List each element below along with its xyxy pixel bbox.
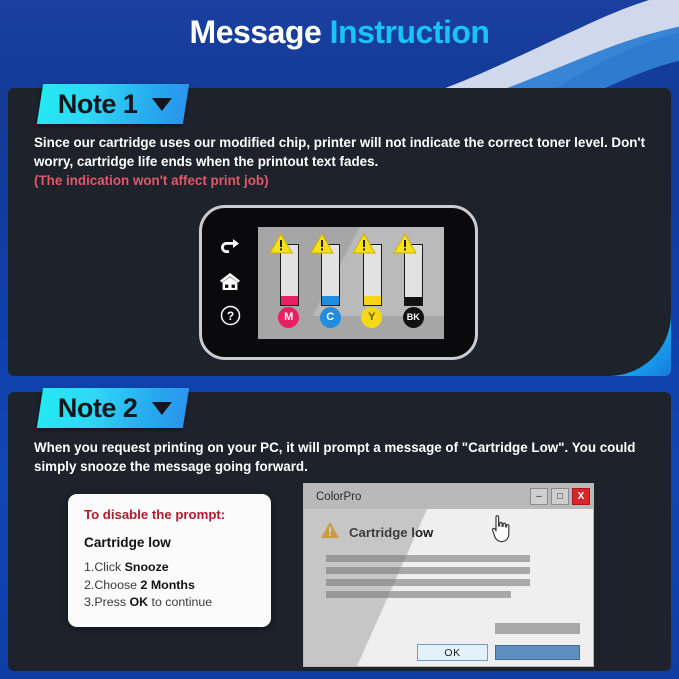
step-keyword: Snooze [125, 560, 169, 574]
toner-fill [364, 296, 381, 305]
step-keyword: OK [129, 595, 148, 609]
list-item: 2.Choose 2 Months [84, 577, 255, 595]
card-title: To disable the prompt: [84, 507, 255, 522]
dialog-message-row: Cartridge low [304, 509, 593, 544]
step-number: 2. [84, 578, 94, 592]
dialog-footer: OK [304, 644, 593, 661]
note1-warning-text: (The indication won't affect print job) [34, 171, 664, 190]
note2-paragraph: When you request printing on your PC, it… [34, 438, 664, 476]
placeholder-bar [326, 591, 511, 598]
step-text: Choose [94, 578, 140, 592]
step-tail: to continue [148, 595, 212, 609]
help-icon[interactable]: ? [220, 305, 241, 326]
dialog-body: Cartridge low OK [304, 509, 593, 667]
note1-badge[interactable]: Note 1 [37, 84, 189, 124]
svg-text:?: ? [226, 309, 233, 323]
page-header: Message Instruction [0, 14, 679, 51]
note2-paragraph-text: When you request printing on your PC, it… [34, 440, 635, 474]
note1-paragraph: Since our cartridge uses our modified ch… [34, 133, 664, 190]
printer-control-panel: ? M C [199, 205, 478, 360]
printer-lcd-screen: M C Y [258, 227, 444, 339]
toner-gauge-yellow: Y [356, 233, 388, 329]
toner-gauge-cyan: C [314, 233, 346, 329]
toner-fill [405, 297, 422, 305]
title-part-instruction: Instruction [330, 14, 490, 50]
step-text: Press [94, 595, 129, 609]
close-icon[interactable]: X [572, 488, 590, 505]
toner-chip-label: Y [361, 307, 382, 328]
list-item: 3.Press OK to continue [84, 594, 255, 612]
dialog-message: Cartridge low [349, 525, 433, 540]
cartridge-low-dialog: ColorPro – □ X Cartridge low [303, 483, 594, 667]
toner-gauge-black: BK [397, 233, 429, 329]
window-controls: – □ X [530, 488, 590, 505]
printer-icon-column: ? [202, 208, 258, 357]
back-arrow-icon[interactable] [219, 239, 241, 257]
title-part-message: Message [190, 14, 322, 50]
toner-gauge-magenta: M [273, 233, 305, 329]
dialog-title: ColorPro [316, 491, 361, 503]
dialog-text-placeholders [326, 555, 593, 598]
chevron-down-icon [152, 402, 172, 415]
home-icon[interactable] [219, 272, 241, 291]
dialog-title-bar[interactable]: ColorPro – □ X [304, 484, 593, 509]
toner-fill [322, 296, 339, 305]
poster-root: Message Instruction Note 1 Since our car… [0, 0, 679, 679]
step-text: Click [94, 560, 124, 574]
card-subtitle: Cartridge low [84, 535, 255, 550]
note1-badge-label: Note 1 [58, 89, 138, 120]
warning-triangle-icon [320, 521, 340, 544]
minimize-icon[interactable]: – [530, 488, 548, 505]
chevron-down-icon [152, 98, 172, 111]
note2-badge-label: Note 2 [58, 393, 138, 424]
page-title: Message Instruction [190, 14, 490, 51]
warning-triangle-icon [310, 233, 334, 259]
toner-fill [281, 296, 298, 305]
note1-paragraph-text: Since our cartridge uses our modified ch… [34, 135, 645, 169]
list-item: 1.Click Snooze [84, 559, 255, 577]
step-keyword: 2 Months [141, 578, 195, 592]
disable-prompt-card: To disable the prompt: Cartridge low 1.C… [68, 494, 271, 627]
warning-triangle-icon [393, 233, 417, 259]
toner-chip-label: BK [403, 307, 424, 328]
ok-button[interactable]: OK [417, 644, 488, 661]
note2-badge[interactable]: Note 2 [37, 388, 189, 428]
step-number: 3. [84, 595, 94, 609]
card-steps: 1.Click Snooze 2.Choose 2 Months 3.Press… [84, 559, 255, 612]
toner-chip-label: M [278, 307, 299, 328]
step-number: 1. [84, 560, 94, 574]
maximize-icon[interactable]: □ [551, 488, 569, 505]
warning-triangle-icon [269, 233, 293, 259]
toner-chip-label: C [320, 307, 341, 328]
warning-triangle-icon [352, 233, 376, 259]
hand-pointer-cursor [489, 513, 513, 666]
